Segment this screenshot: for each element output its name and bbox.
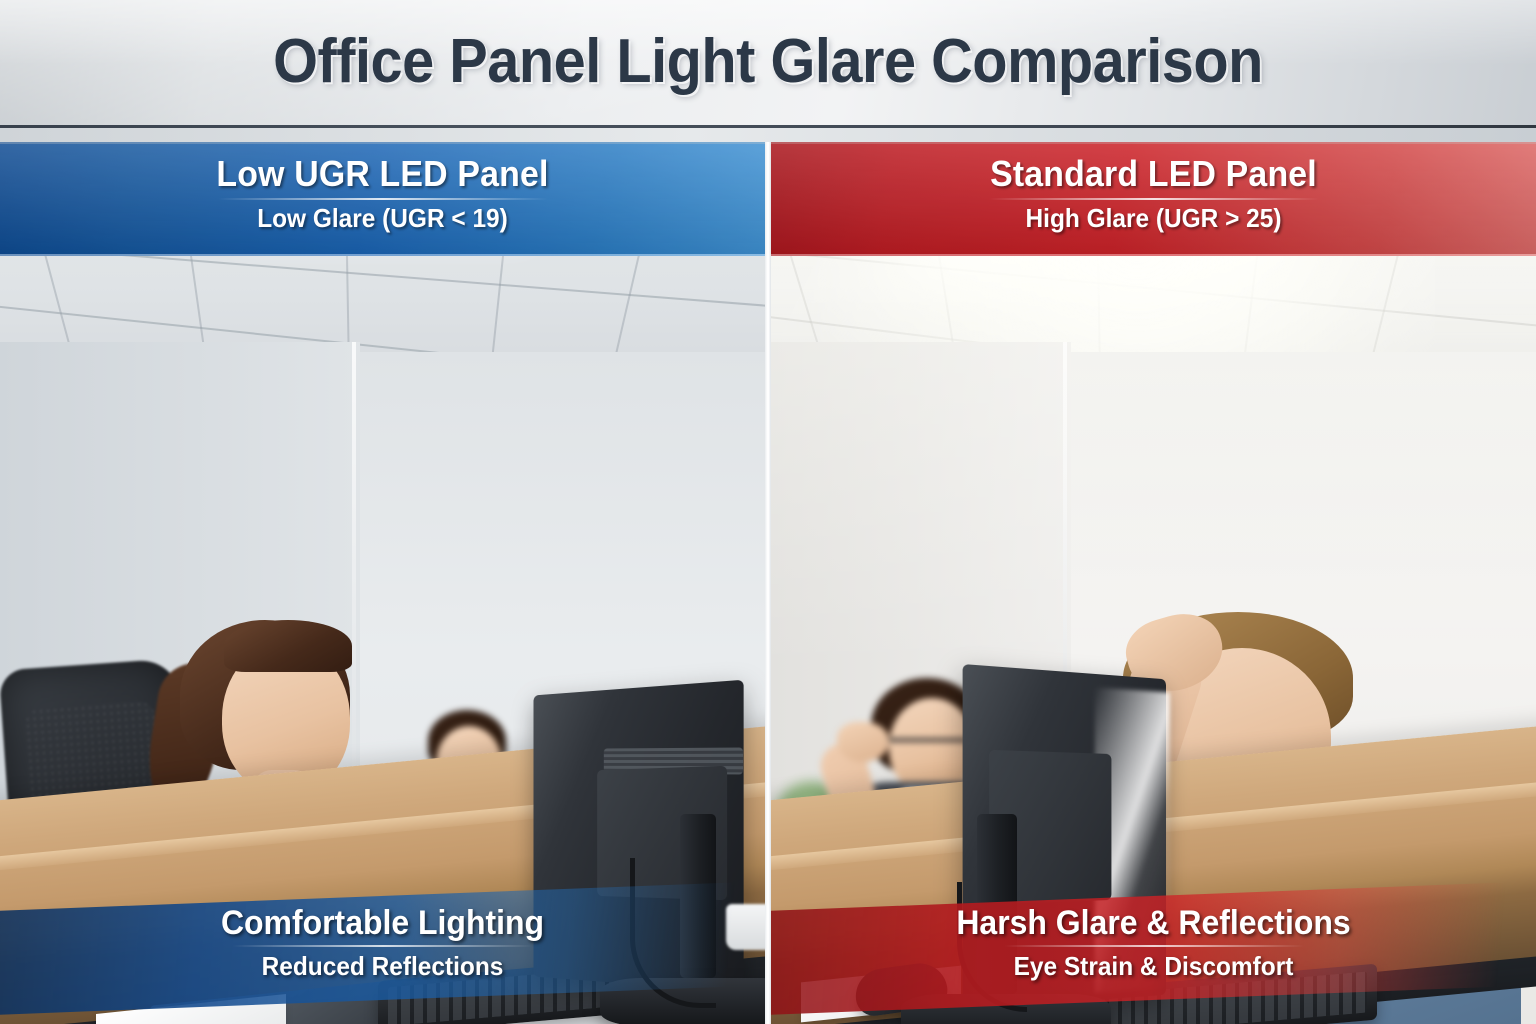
panel-standard: Standard LED Panel High Glare (UGR > 25)… bbox=[771, 142, 1536, 1024]
band-standard: Standard LED Panel High Glare (UGR > 25) bbox=[771, 142, 1536, 256]
caption-title-low-ugr: Comfortable Lighting bbox=[23, 902, 742, 944]
band-title-low-ugr: Low UGR LED Panel bbox=[23, 152, 742, 196]
band-low-ugr: Low UGR LED Panel Low Glare (UGR < 19) bbox=[0, 142, 765, 256]
band-subtitle-low-ugr: Low Glare (UGR < 19) bbox=[23, 201, 742, 235]
caption-rule bbox=[233, 945, 533, 947]
caption-subtitle-low-ugr: Reduced Reflections bbox=[23, 949, 742, 983]
title-underline bbox=[0, 128, 1536, 142]
band-rule-standard bbox=[989, 198, 1319, 200]
page-title: Office Panel Light Glare Comparison bbox=[54, 26, 1482, 98]
caption-title-standard: Harsh Glare & Reflections bbox=[794, 902, 1513, 944]
band-title-standard: Standard LED Panel bbox=[794, 152, 1513, 196]
panel-low-ugr: Low UGR LED Panel Low Glare (UGR < 19) C… bbox=[0, 142, 765, 1024]
caption-subtitle-standard: Eye Strain & Discomfort bbox=[794, 949, 1513, 983]
title-bar: Office Panel Light Glare Comparison bbox=[0, 0, 1536, 142]
caption-rule-standard bbox=[1004, 945, 1304, 947]
band-subtitle-standard: High Glare (UGR > 25) bbox=[794, 201, 1513, 235]
infographic-root: Office Panel Light Glare Comparison bbox=[0, 0, 1536, 1024]
band-rule bbox=[218, 198, 548, 200]
vertical-divider-icon bbox=[765, 142, 771, 1024]
